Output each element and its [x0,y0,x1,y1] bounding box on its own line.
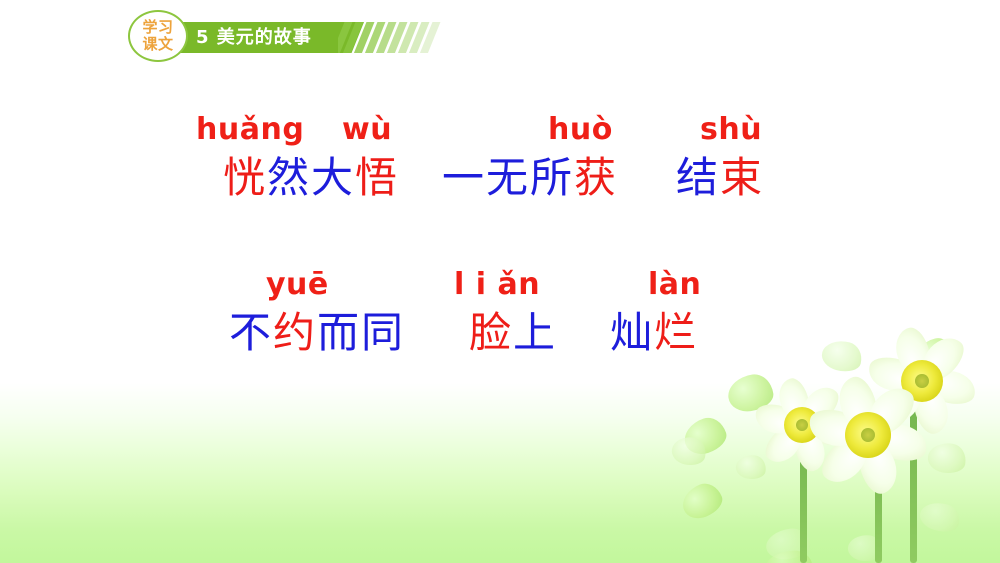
word-group-lianshang: l i ǎn脸上 [448,267,578,359]
pinyin-row: huò [420,112,640,152]
pinyin-label: wù [342,112,392,152]
pinyin-label: huǎng [196,112,304,152]
hanzi-char: 灿 [610,308,654,357]
hanzi-row: 结束 [650,152,790,204]
word-group-buyueertong: yuē不约而同 [222,267,412,359]
hanzi-char: 获 [574,153,618,202]
hanzi-row: 脸上 [448,307,578,359]
pinyin-row: làn [594,267,714,307]
pinyin-row: l i ǎn [448,267,578,307]
hanzi-row: 恍然大悟 [196,152,426,204]
word-group-yiwusuohuo: huò一无所获 [420,112,640,204]
hanzi-char: 同 [361,308,405,357]
slide: 5 美元的故事 学习 课文 huǎngwù恍然大悟huò一无所获shù结束yuē… [0,0,1000,563]
hanzi-char: 大 [311,153,355,202]
pinyin-label: l i ǎn [454,267,540,307]
pinyin-row: shù [650,112,790,152]
word-group-canlan: làn灿烂 [594,267,714,359]
pinyin-label: shù [700,112,762,152]
hanzi-char: 约 [273,308,317,357]
hanzi-char: 结 [676,153,720,202]
hanzi-row: 灿烂 [594,307,714,359]
hanzi-char: 然 [267,153,311,202]
hanzi-char: 脸 [469,308,513,357]
word-group-huangranqawu: huǎngwù恍然大悟 [196,112,426,204]
hanzi-char: 无 [486,153,530,202]
pinyin-row: huǎngwù [196,112,426,152]
hanzi-char: 烂 [654,308,698,357]
hanzi-row: 不约而同 [222,307,412,359]
hanzi-char: 束 [720,153,764,202]
hanzi-char: 上 [513,308,557,357]
hanzi-row: 一无所获 [420,152,640,204]
word-list: huǎngwù恍然大悟huò一无所获shù结束yuē不约而同l i ǎn脸上là… [0,0,1000,563]
hanzi-char: 悟 [355,153,399,202]
hanzi-char: 一 [442,153,486,202]
hanzi-char: 恍 [223,153,267,202]
hanzi-char: 所 [530,153,574,202]
hanzi-char: 不 [229,308,273,357]
pinyin-label: yuē [266,267,329,307]
pinyin-label: làn [648,267,701,307]
pinyin-row: yuē [222,267,412,307]
word-group-jieshu: shù结束 [650,112,790,204]
hanzi-char: 而 [317,308,361,357]
pinyin-label: huò [548,112,613,152]
